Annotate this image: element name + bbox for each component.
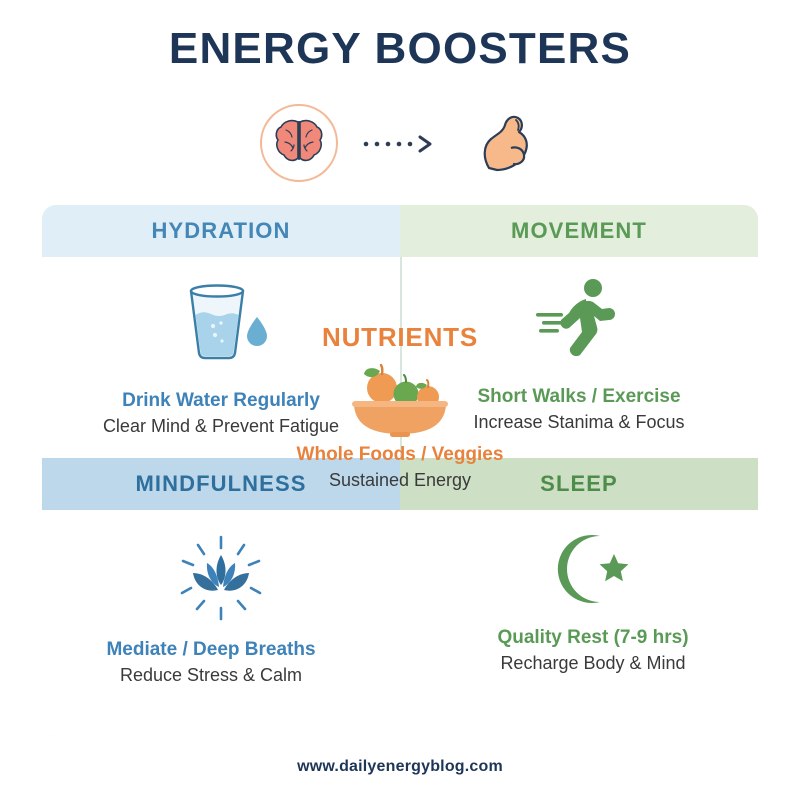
- nutrients-block[interactable]: NUTRIENTS Whole Foods / Veggies Sustaine…: [270, 322, 530, 491]
- running-person-icon: [531, 271, 627, 363]
- quadrant-sleep[interactable]: SLEEP Quality Rest (7-9 hrs) Recharge Bo…: [400, 458, 758, 735]
- hero-icon-row: [0, 103, 800, 183]
- brain-icon: [272, 116, 326, 171]
- nutrients-subtitle: Sustained Energy: [329, 469, 471, 492]
- quadrant-subtitle-sleep: Recharge Body & Mind: [500, 652, 685, 675]
- footer-url[interactable]: www.dailyenergyblog.com: [0, 758, 800, 776]
- quadrant-body-sleep: Quality Rest (7-9 hrs) Recharge Body & M…: [400, 510, 758, 735]
- lotus-flower-icon: [171, 532, 271, 624]
- water-glass-icon: [169, 275, 273, 367]
- quadrant-title-mindfulness: Mediate / Deep Breaths: [106, 638, 315, 662]
- quadrant-mindfulness[interactable]: MINDFULNESS: [42, 458, 400, 735]
- nutrients-header: NUTRIENTS: [322, 322, 478, 353]
- nutrients-title: Whole Foods / Veggies: [297, 443, 504, 467]
- quadrant-header-hydration: HYDRATION: [42, 205, 400, 257]
- quadrant-title-sleep: Quality Rest (7-9 hrs): [497, 626, 688, 650]
- quadrant-header-movement: MOVEMENT: [400, 205, 758, 257]
- page-title: ENERGY BOOSTERS: [0, 26, 800, 72]
- flexed-biceps-icon: [468, 107, 540, 179]
- crescent-moon-star-icon: [550, 526, 636, 618]
- fruit-bowl-icon: [340, 355, 460, 439]
- quadrant-body-mindfulness: Mediate / Deep Breaths Reduce Stress & C…: [42, 510, 400, 735]
- brain-icon-circle: [260, 104, 338, 182]
- quadrant-subtitle-mindfulness: Reduce Stress & Calm: [120, 664, 302, 687]
- dotted-arrow-icon: [360, 130, 446, 156]
